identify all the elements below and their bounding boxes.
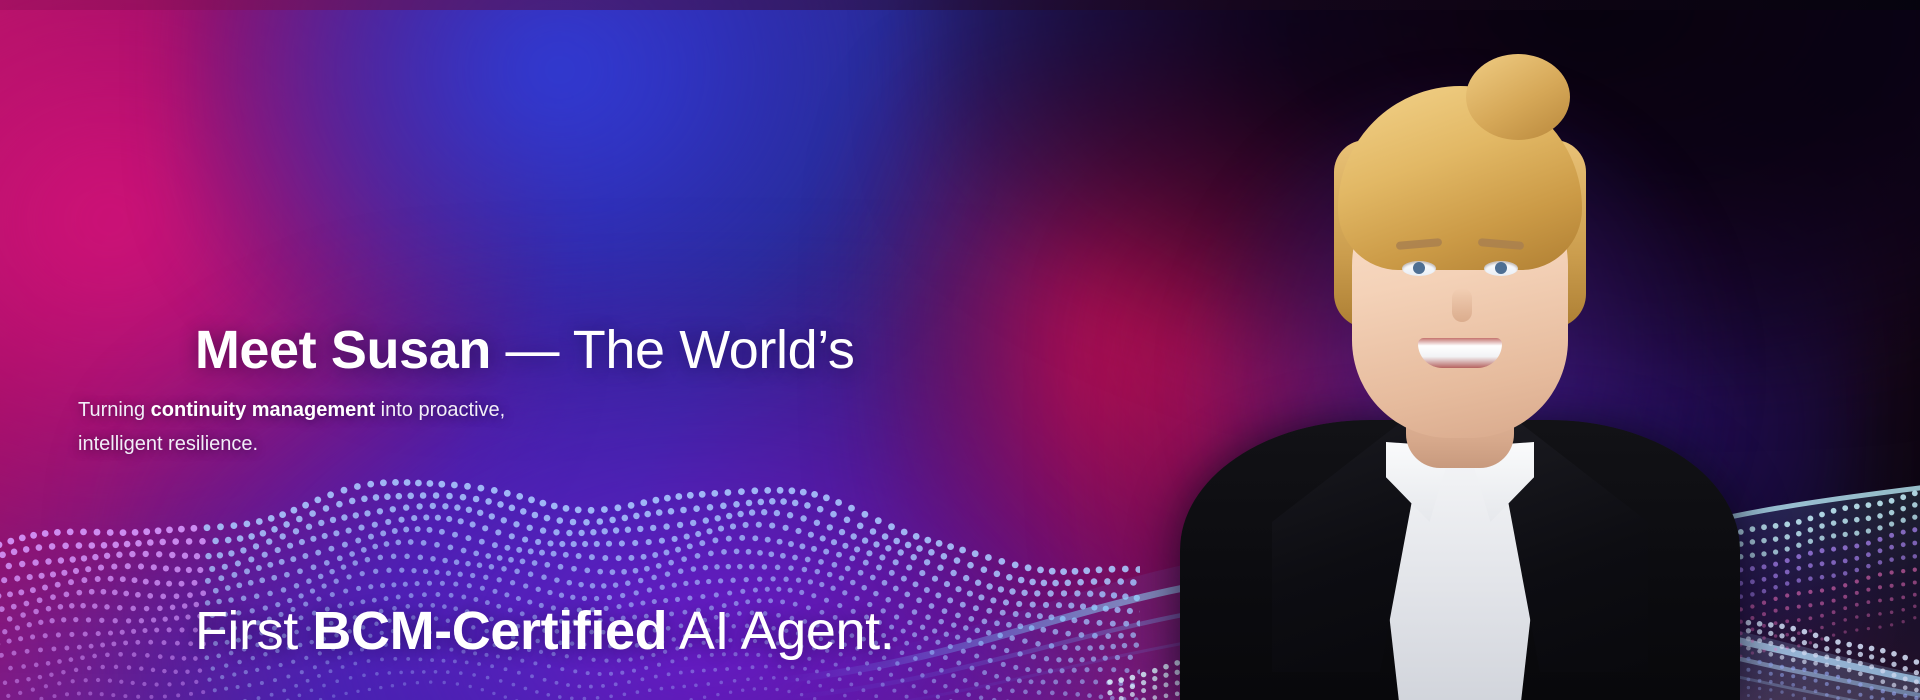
- portrait-hair-bun: [1466, 54, 1570, 140]
- portrait-pupil-right: [1495, 262, 1507, 274]
- portrait-pupil-left: [1413, 262, 1425, 274]
- susan-portrait: [1150, 60, 1770, 700]
- headline-part-the-worlds: — The World’s: [491, 320, 855, 380]
- headline-part-bcm-certified: BCM-Certified: [312, 601, 667, 661]
- subtitle-part-2: into proactive,: [375, 399, 505, 421]
- subtitle-line-2: intelligent resilience.: [78, 433, 258, 455]
- hero-banner: Meet Susan — The World’s First BCM-Certi…: [0, 0, 1920, 700]
- subtitle-emphasis: continuity management: [151, 399, 375, 421]
- portrait-smile: [1418, 338, 1502, 368]
- hero-copy: Meet Susan — The World’s First BCM-Certi…: [78, 0, 1058, 700]
- portrait-nose: [1452, 288, 1472, 322]
- headline-line-2: First BCM-Certified AI Agent.: [78, 601, 894, 700]
- headline-part-ai-agent: AI Agent.: [667, 601, 894, 661]
- headline-part-meet-susan: Meet Susan: [195, 320, 491, 380]
- subtitle-part-1: Turning: [78, 399, 151, 421]
- hero-subtitle: Turning continuity management into proac…: [78, 393, 718, 462]
- headline-part-first: First: [195, 601, 313, 661]
